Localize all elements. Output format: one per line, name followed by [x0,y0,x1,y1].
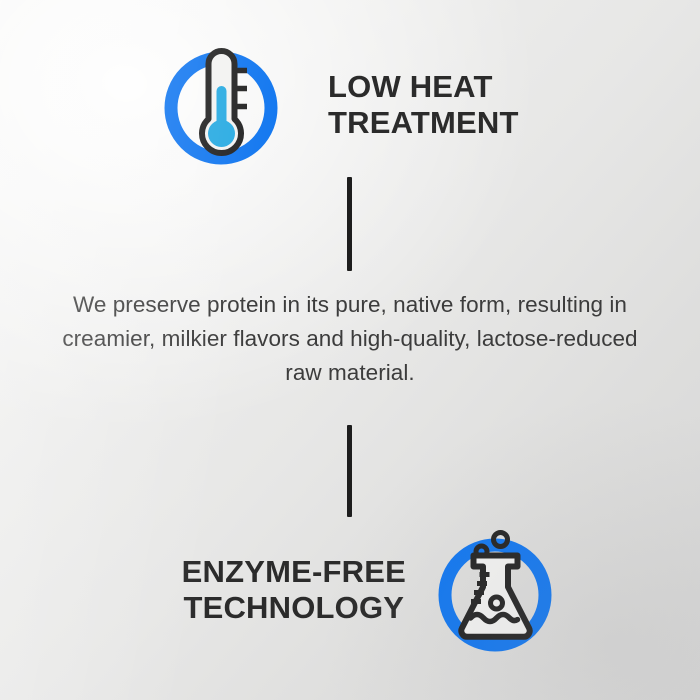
enzyme-free-technology-block: ENZYME-FREE TECHNOLOGY [120,525,560,655]
flask-icon [434,525,560,655]
divider-upper [347,177,352,271]
low-heat-treatment-block: LOW HEAT TREATMENT [160,40,580,170]
page-title-low-heat: LOW HEAT TREATMENT [328,69,519,141]
infographic-canvas: LOW HEAT TREATMENT We preserve protein i… [0,0,700,700]
description-paragraph: We preserve protein in its pure, native … [50,288,650,391]
thermometer-icon [160,40,286,170]
divider-lower [347,425,352,517]
page-title-enzyme-free: ENZYME-FREE TECHNOLOGY [182,554,406,626]
